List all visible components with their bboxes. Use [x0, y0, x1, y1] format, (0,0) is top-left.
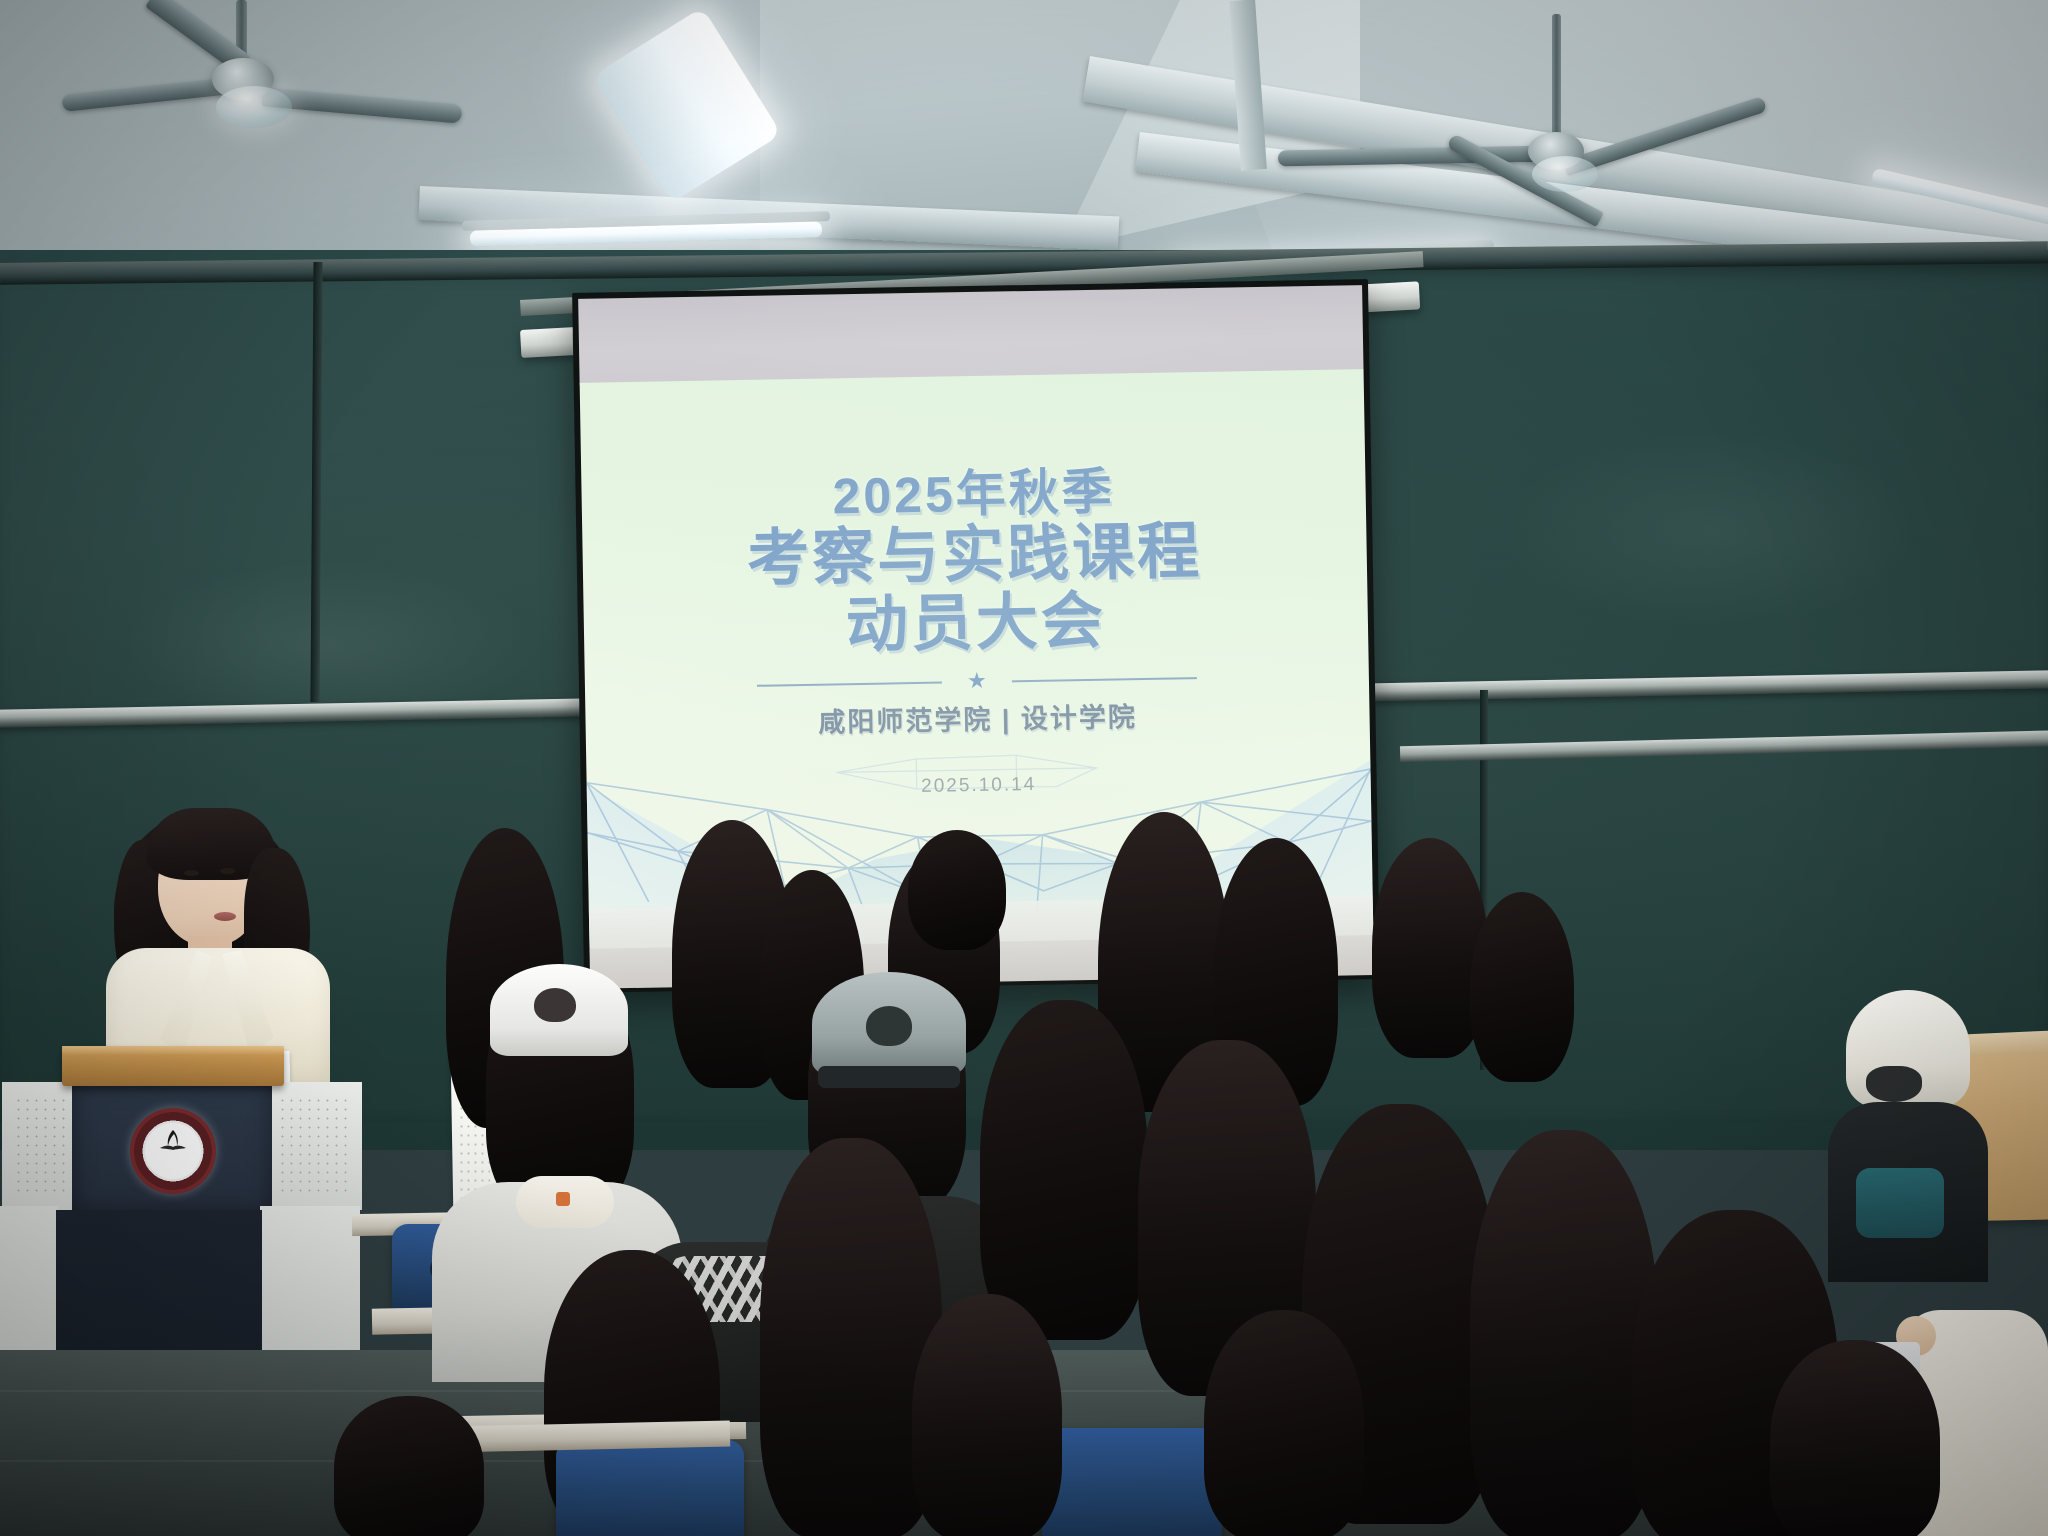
chair	[1042, 1428, 1222, 1536]
speaker-eye	[184, 870, 199, 876]
student-head	[334, 1396, 484, 1536]
fan-light-globe	[216, 86, 292, 128]
slide-organization: 咸阳师范学院 | 设计学院	[585, 692, 1370, 745]
chair	[556, 1440, 744, 1536]
speaker-mouth	[214, 912, 236, 921]
cap-opening	[866, 1006, 912, 1046]
slide-title-line-2: 考察与实践课程	[582, 516, 1367, 595]
slide-title-line-3: 动员大会	[583, 584, 1368, 663]
cap-opening	[1866, 1066, 1922, 1102]
slide-divider: ★	[757, 669, 1197, 695]
cap-opening	[534, 988, 576, 1022]
student-head	[1204, 1310, 1364, 1536]
student-head	[912, 1294, 1062, 1536]
student-head	[980, 1000, 1148, 1340]
student-head	[908, 830, 1006, 950]
hoodie-logo	[556, 1192, 570, 1206]
screen-top-band	[578, 285, 1363, 385]
student-head	[1470, 1130, 1658, 1536]
fan-light-globe	[1532, 156, 1598, 192]
chalk-smudge	[1500, 430, 1920, 630]
lecture-hall-photo: 2025年秋季 考察与实践课程 动员大会 ★ 咸阳师范学院 | 设计学院 202…	[0, 0, 2048, 1536]
slide-text-block: 2025年秋季 考察与实践课程 动员大会 ★ 咸阳师范学院 | 设计学院 202…	[581, 461, 1371, 804]
star-icon: ★	[967, 672, 987, 690]
student-scarf	[1856, 1168, 1944, 1238]
student-head	[1470, 892, 1574, 1082]
student-audience	[0, 1010, 2048, 1536]
student-head	[1770, 1340, 1940, 1536]
cap-strap	[818, 1066, 960, 1088]
speaker-eye	[220, 868, 235, 874]
